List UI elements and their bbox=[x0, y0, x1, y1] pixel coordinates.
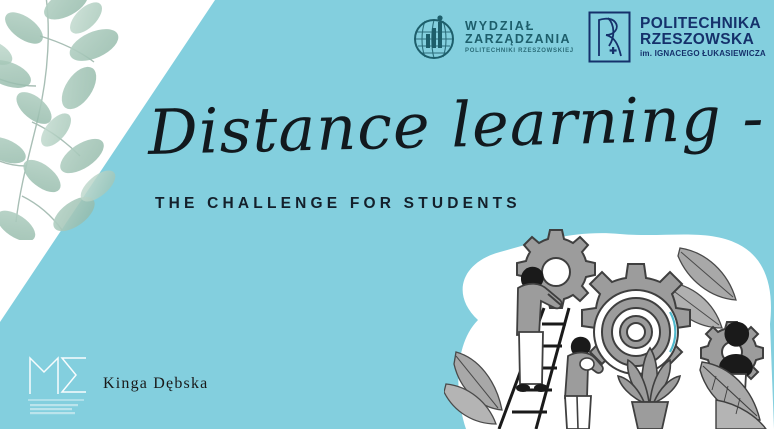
people-with-gears-illustration bbox=[444, 224, 774, 429]
university-logo-line1: POLITECHNIKA bbox=[640, 16, 766, 32]
pr-monogram-icon bbox=[588, 11, 631, 63]
university-logo-line3: im. IGNACEGO ŁUKASIEWICZA bbox=[640, 50, 766, 58]
university-logo-line2: RZESZOWSKA bbox=[640, 32, 766, 48]
m-sigma-monogram-icon bbox=[24, 344, 98, 416]
slide-title: Distance learning - bbox=[147, 81, 749, 169]
university-logo: POLITECHNIKA RZESZOWSKA im. IGNACEGO ŁUK… bbox=[588, 11, 766, 63]
university-logo-text: POLITECHNIKA RZESZOWSKA im. IGNACEGO ŁUK… bbox=[640, 16, 766, 59]
faculty-logo-text: WYDZIAŁ ZARZĄDZANIA POLITECHNIKI RZESZOW… bbox=[465, 20, 574, 55]
logo-row: WYDZIAŁ ZARZĄDZANIA POLITECHNIKI RZESZOW… bbox=[0, 8, 774, 80]
globe-grid-emblem-icon bbox=[411, 12, 457, 62]
faculty-logo-line2: ZARZĄDZANIA bbox=[465, 33, 574, 46]
gear-large-icon bbox=[582, 264, 690, 374]
faculty-logo-line1: WYDZIAŁ bbox=[465, 20, 574, 33]
slide-subtitle: THE CHALLENGE FOR STUDENTS bbox=[155, 195, 521, 213]
faculty-logo-line3: POLITECHNIKI RZESZOWSKIEJ bbox=[465, 48, 574, 54]
presentation-slide: WYDZIAŁ ZARZĄDZANIA POLITECHNIKI RZESZOW… bbox=[0, 0, 774, 429]
faculty-logo: WYDZIAŁ ZARZĄDZANIA POLITECHNIKI RZESZOW… bbox=[411, 12, 574, 62]
author-name: Kinga Dębska bbox=[103, 375, 209, 393]
